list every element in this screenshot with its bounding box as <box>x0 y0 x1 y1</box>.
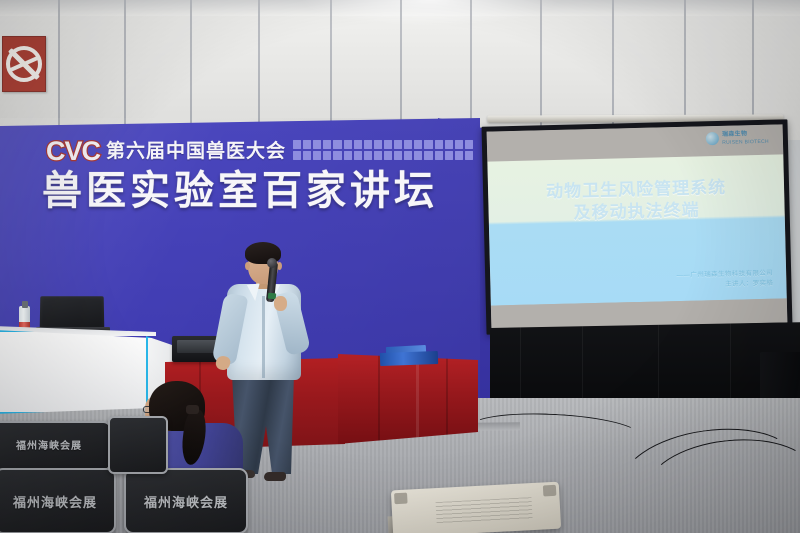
bottle-cap <box>22 301 28 308</box>
slide-company-logo: 瑞森生物 RUISEN BIOTECH <box>706 131 769 146</box>
screen-frame: 瑞森生物 RUISEN BIOTECH 动物卫生风险管理系统 及移动执法终端 —… <box>482 119 793 334</box>
shirt-placket <box>262 296 265 378</box>
cloth-fold <box>378 354 380 444</box>
cloth-fold <box>446 354 448 444</box>
chair-label: 福州海峡会展 <box>126 492 246 511</box>
slide-title: 动物卫生风险管理系统 及移动执法终端 <box>488 176 785 226</box>
white-podium <box>0 330 152 414</box>
audience-chair[interactable]: 福州海峡会展 <box>0 421 112 471</box>
audience-chair[interactable]: 福州海峡会展 <box>124 468 248 533</box>
presenter-right-hand <box>274 296 287 311</box>
banner-main-title: 兽医实验室百家讲坛 <box>42 171 438 211</box>
microphone-head-icon <box>267 258 277 268</box>
hair-clip <box>186 405 199 414</box>
presenter-shoe <box>264 472 286 481</box>
presenter-ear <box>245 262 250 270</box>
laptop-lid <box>40 296 105 329</box>
logo-sub: RUISEN BIOTECH <box>722 138 769 145</box>
chair-label: 福州海峡会展 <box>0 437 110 452</box>
table-blue-item <box>380 351 438 366</box>
red-draped-table-right <box>338 354 478 444</box>
projection-screen: 瑞森生物 RUISEN BIOTECH 动物卫生风险管理系统 及移动执法终端 —… <box>482 119 793 334</box>
screen-surface: 瑞森生物 RUISEN BIOTECH 动物卫生风险管理系统 及移动执法终端 —… <box>487 124 788 329</box>
presenter-ear <box>277 262 282 270</box>
banner-subtitle: 第六届中国兽医大会 <box>106 142 286 161</box>
banner-dot-pattern <box>293 140 473 160</box>
cloth-highlight <box>416 354 419 444</box>
case-corner <box>543 485 557 497</box>
case-corner <box>394 493 408 505</box>
audience-chair[interactable]: 福州海峡会展 <box>0 468 116 533</box>
slide-credit: ——广州瑞森生物科技有限公司 主讲人：罗奕格 <box>676 269 773 291</box>
logo-mark-icon <box>706 132 719 145</box>
photo-scene: CVC 第六届中国兽医大会 兽医实验室百家讲坛 瑞森生物 RUISEN BIOT… <box>0 0 800 533</box>
wall-light-glow <box>300 0 560 26</box>
chair-label: 福州海峡会展 <box>0 492 114 511</box>
banner-header-row: CVC 第六届中国兽医大会 <box>46 138 286 165</box>
case-label <box>436 497 533 524</box>
cvc-logo: CVC <box>46 138 100 165</box>
equipment-case <box>391 482 561 533</box>
audience-chair-back[interactable] <box>108 416 168 474</box>
logo-text: 瑞森生物 RUISEN BIOTECH <box>722 131 769 146</box>
no-smoking-icon <box>2 36 46 92</box>
